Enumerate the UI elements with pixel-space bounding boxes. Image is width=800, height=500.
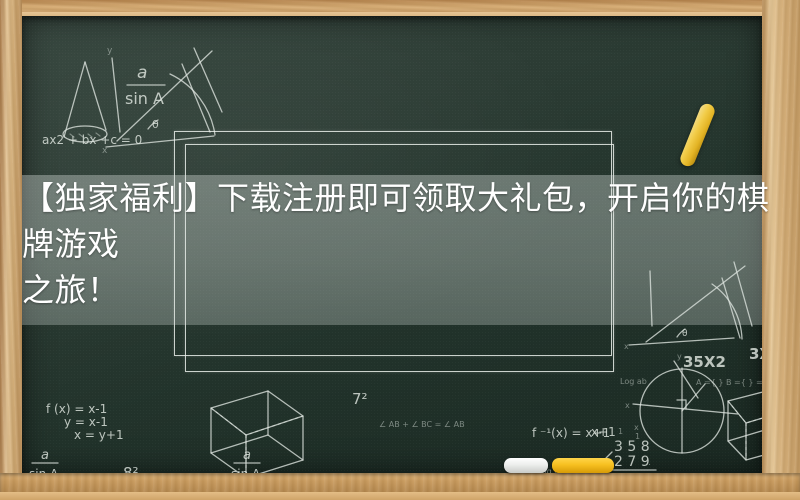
chalk-ledge-lip xyxy=(0,492,800,500)
multiplication-1-text: 35X2 xyxy=(683,353,726,371)
multiplication-2-text: 3X2 xyxy=(749,345,762,363)
svg-text:1: 1 xyxy=(618,427,623,436)
svg-text:1: 1 xyxy=(635,432,640,441)
svg-text:3 5 8: 3 5 8 xyxy=(614,439,650,455)
svg-text:a: a xyxy=(243,448,251,463)
svg-text:y = x-1: y = x-1 xyxy=(64,415,108,429)
svg-text:x+1: x+1 xyxy=(591,425,616,439)
svg-text:a: a xyxy=(41,448,49,463)
frame-left-rail xyxy=(0,0,22,500)
svg-text:sin A: sin A xyxy=(125,89,164,108)
chalk-ledge xyxy=(0,473,800,500)
svg-text:a: a xyxy=(137,63,147,83)
function-definition-text: f (x) = x-1 y = x-1 x = y+1 xyxy=(46,402,124,442)
svg-text:x: x xyxy=(624,342,629,351)
promo-caption: 【独家福利】下载注册即可领取大礼包，开启你的棋牌游戏之旅！ xyxy=(22,175,782,313)
caption-line-2: 之旅！ xyxy=(22,271,120,309)
svg-text:x: x xyxy=(625,401,630,410)
yellow-chalk-stick xyxy=(552,458,614,473)
svg-text:.: . xyxy=(648,458,651,468)
svg-text:x: x xyxy=(634,423,639,432)
set-notation-text: A ={ } B ={ } ={ } xyxy=(696,378,762,387)
svg-text:f (x) = x-1: f (x) = x-1 xyxy=(46,402,107,416)
power-eight-text: 8² xyxy=(123,464,139,473)
log-note-text: Log ab xyxy=(620,377,647,386)
angle-sum-text: ∠ AB + ∠ BC = ∠ AB xyxy=(379,420,465,429)
promo-banner-image: a sin A y x θ ax2 + bx +c = 0 xyxy=(0,0,800,500)
sine-rule-formula: a sin A xyxy=(125,63,165,108)
svg-text:2 7 9: 2 7 9 xyxy=(614,454,650,470)
quadratic-equation-text: ax2 + bx +c = 0 xyxy=(42,133,142,147)
white-chalk-stick xyxy=(504,458,548,473)
svg-text:θ: θ xyxy=(682,329,688,339)
svg-text:θ: θ xyxy=(152,118,159,131)
circle-sector-diagram: y x xyxy=(625,352,738,453)
svg-text:y: y xyxy=(677,352,682,361)
svg-text:x: x xyxy=(102,146,108,156)
sine-rule-formula-3: a sin A xyxy=(231,448,261,473)
svg-text:y: y xyxy=(107,46,113,56)
cube-diagram-center xyxy=(211,391,303,473)
sine-rule-formula-2: a sin A xyxy=(29,448,59,473)
inverse-function-text: f ⁻¹(x) = x+1 xyxy=(532,426,610,440)
svg-text:x = y+1: x = y+1 xyxy=(74,428,124,442)
cube-diagram-right xyxy=(728,388,762,460)
yellow-chalk-stick-on-board xyxy=(678,102,717,169)
caption-line-1: 【独家福利】下载注册即可领取大礼包，开启你的棋牌游戏 xyxy=(22,179,770,263)
cone-icon xyxy=(63,62,107,142)
power-seven-text: 7² xyxy=(352,390,368,408)
